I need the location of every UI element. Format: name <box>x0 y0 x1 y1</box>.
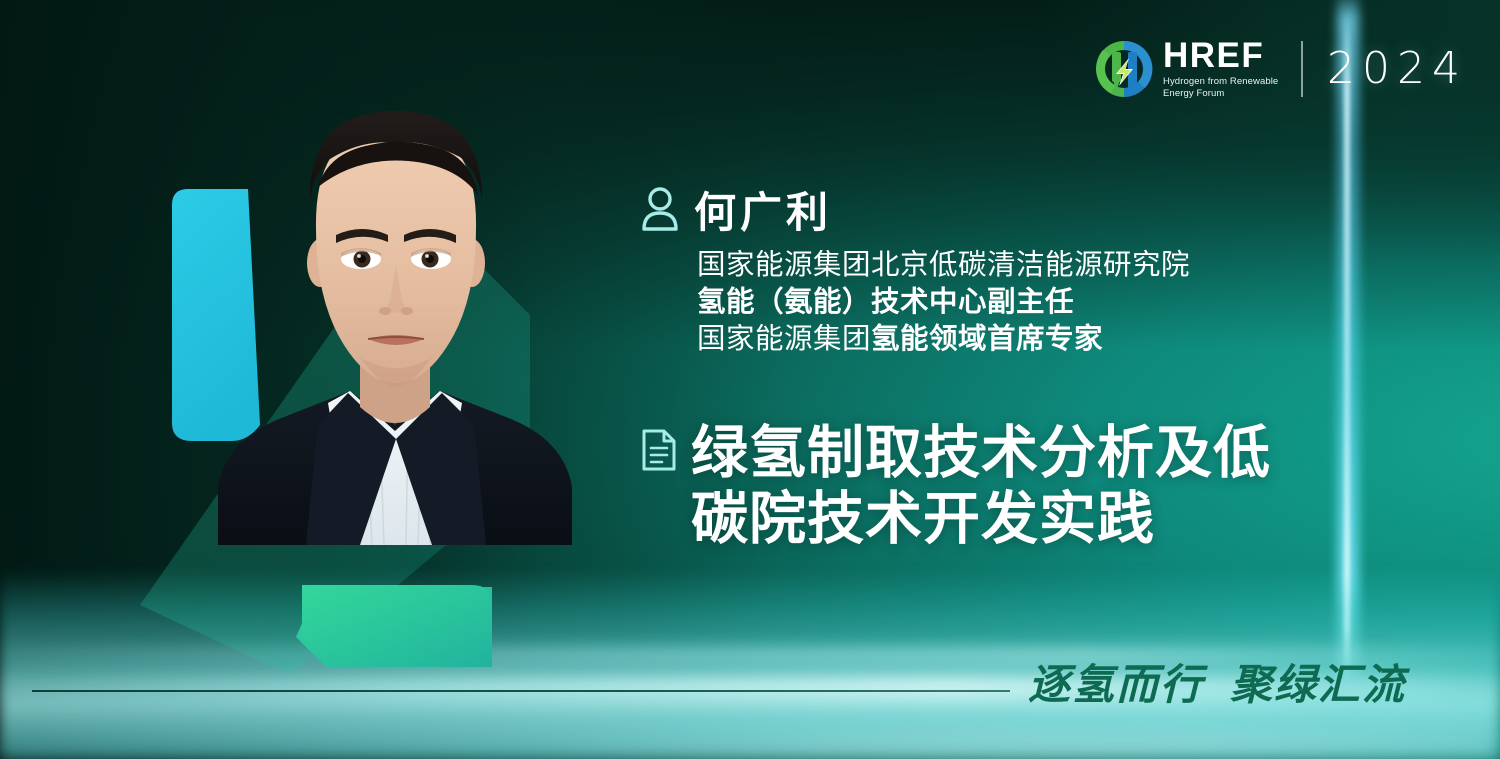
presentation-slide: HREF Hydrogen from Renewable Energy Foru… <box>0 0 1500 759</box>
affiliation-line-3-prefix: 国家能源集团 <box>697 323 871 355</box>
talk-block: 绿氢制取技术分析及低 碳院技术开发实践 <box>641 420 1461 552</box>
speaker-info: 何广利 国家能源集团北京低碳清洁能源研究院 氢能（氨能）技术中心副主任 国家能源… <box>640 186 1440 358</box>
talk-title-line-1: 绿氢制取技术分析及低 <box>691 420 1271 486</box>
brand-name: HREF <box>1163 38 1281 73</box>
affiliation-line-2: 氢能（氨能）技术中心副主任 <box>697 284 1440 321</box>
speaker-portrait <box>210 95 580 545</box>
document-icon <box>641 428 677 477</box>
brand-tagline: Hydrogen from Renewable Energy Forum <box>1163 76 1281 99</box>
slogan-part-1: 逐氢而行 <box>1028 661 1204 708</box>
person-icon <box>640 186 680 237</box>
event-slogan: 逐氢而行聚绿汇流 <box>1028 664 1406 706</box>
brand-wordmark: HREF Hydrogen from Renewable Energy Foru… <box>1163 38 1281 99</box>
portrait-photo-frame <box>210 95 580 545</box>
brand-divider <box>1301 41 1303 97</box>
affiliation-line-3: 国家能源集团氢能领域首席专家 <box>697 321 1440 358</box>
href-logo-icon <box>1093 38 1155 100</box>
event-year: 2024 <box>1327 47 1467 91</box>
slogan-part-2: 聚绿汇流 <box>1230 661 1406 708</box>
speaker-name: 何广利 <box>694 192 832 234</box>
affiliation-line-1: 国家能源集团北京低碳清洁能源研究院 <box>697 247 1440 284</box>
speaker-affiliation: 国家能源集团北京低碳清洁能源研究院 氢能（氨能）技术中心副主任 国家能源集团氢能… <box>697 247 1440 358</box>
brand-header: HREF Hydrogen from Renewable Energy Foru… <box>1093 38 1467 100</box>
talk-title-line-2: 碳院技术开发实践 <box>691 486 1271 552</box>
talk-title: 绿氢制取技术分析及低 碳院技术开发实践 <box>691 420 1271 552</box>
portrait-block <box>120 175 590 675</box>
footer-divider <box>32 690 1010 692</box>
affiliation-line-3-emphasis: 氢能领域首席专家 <box>871 323 1103 355</box>
